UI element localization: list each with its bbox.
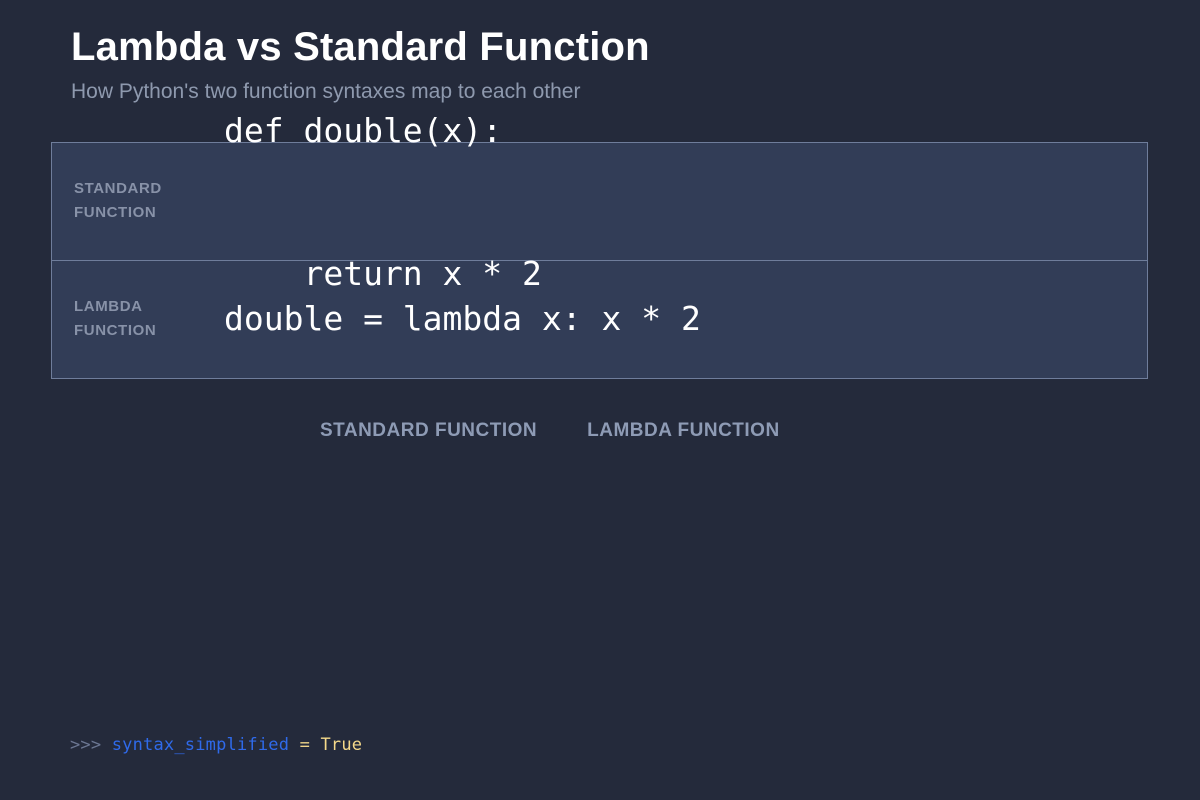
row-label-line-1: STANDARD [74,177,224,202]
row-label-line-2: FUNCTION [74,201,224,226]
console-prompt: >>> [70,735,112,755]
legend-item-standard-function: STANDARD FUNCTION [320,420,537,442]
panel-row-lambda-function: LAMBDA FUNCTION double = lambda x: x * 2 [52,261,1147,379]
row-label-standard-function: STANDARD FUNCTION [74,177,224,227]
console-variable: syntax_simplified [112,735,289,755]
row-label-line-1: LAMBDA [74,295,224,320]
row-label-line-2: FUNCTION [74,319,224,344]
code-lambda-function: double = lambda x: x * 2 [224,200,1127,439]
console-line: >>> syntax_simplified = True [70,735,362,755]
code-line-lambda: double = lambda x: x * 2 [224,295,1127,343]
console-value: True [320,735,362,755]
comparison-panel: STANDARD FUNCTION def double(x): return … [51,142,1148,379]
code-line-def: def double(x): [224,107,1127,155]
legend: STANDARD FUNCTION LAMBDA FUNCTION [320,420,780,442]
console-operator: = [289,735,320,755]
legend-item-lambda-function: LAMBDA FUNCTION [587,420,780,442]
row-label-lambda-function: LAMBDA FUNCTION [74,295,224,345]
